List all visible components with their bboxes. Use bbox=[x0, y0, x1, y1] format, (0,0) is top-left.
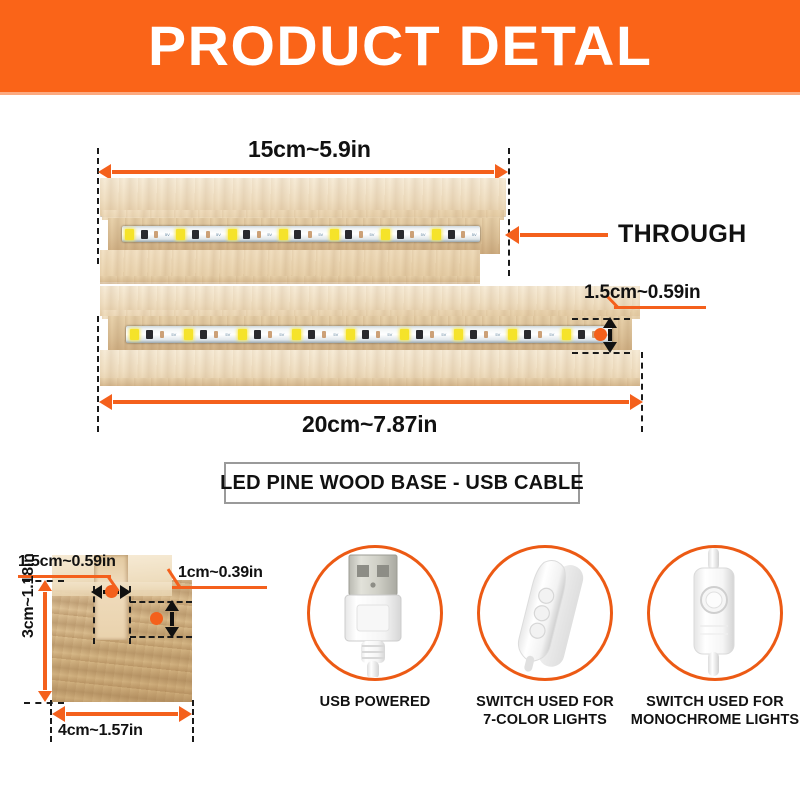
lower-base-front-edge bbox=[100, 378, 640, 386]
feature-item-usb-powered[interactable]: USB POWERED bbox=[290, 545, 460, 775]
dim-extension-line-depth-bottom bbox=[130, 636, 192, 638]
dim-label-groove-depth: 1cm~0.39in bbox=[178, 564, 263, 582]
led-segment: 5V bbox=[396, 326, 450, 343]
dim-extension-line-top-groove bbox=[572, 318, 630, 320]
led-segment: 5V bbox=[504, 326, 558, 343]
dim-extension-line-right-15cm bbox=[508, 148, 510, 276]
led-segment: 5V bbox=[234, 326, 288, 343]
dim-arrow-groove-height bbox=[608, 329, 612, 341]
through-callout-arrow bbox=[520, 233, 608, 237]
dim-label-top-length: 15cm~5.9in bbox=[248, 136, 371, 163]
product-caption-box: LED PINE WOOD BASE - USB CABLE bbox=[224, 462, 580, 504]
dim-arrow-total-height bbox=[43, 592, 47, 690]
dim-extension-line-left-20cm bbox=[97, 316, 99, 432]
led-segment: 5V bbox=[275, 226, 326, 242]
led-silkscreen-marking: 5V bbox=[549, 332, 554, 337]
led-resistor-icon bbox=[397, 230, 404, 239]
led-segment: 5V bbox=[126, 326, 180, 343]
led-segment: 5V bbox=[288, 326, 342, 343]
led-chip-icon bbox=[292, 329, 301, 340]
led-chip-icon bbox=[381, 229, 390, 240]
dim-arrow-groove-depth bbox=[170, 612, 174, 626]
dim-extension-line-bottom-groove bbox=[572, 352, 630, 354]
led-strip-upper: 5V 5V 5V 5V 5V bbox=[122, 226, 480, 242]
led-silkscreen-marking: 5V bbox=[279, 332, 284, 337]
dim-extension-line-height-bottom bbox=[24, 702, 64, 704]
led-segment: 5V bbox=[450, 326, 504, 343]
feature-list: USB POWERED bbox=[290, 545, 800, 775]
cross-section-diagram: 1.5cm~0.59in 1cm~0.39in 3cm~1.18in 4cm~1… bbox=[0, 540, 290, 780]
led-resistor-icon bbox=[192, 230, 199, 239]
led-solder-pad-icon bbox=[154, 231, 158, 238]
feature-label-line1: USB POWERED bbox=[320, 693, 431, 711]
usb-connector-icon bbox=[319, 549, 431, 677]
feature-label-monochrome: SWITCH USED FOR MONOCHROME LIGHTS bbox=[631, 693, 799, 729]
led-chip-icon bbox=[508, 329, 517, 340]
product-photo-stage: 15cm~5.9in 5V 5V 5V 5V bbox=[0, 100, 800, 440]
feature-circle-usb bbox=[307, 545, 443, 681]
led-silkscreen-marking: 5V bbox=[387, 332, 392, 337]
led-segment: 5V bbox=[173, 226, 224, 242]
feature-label-line2: 7-COLOR LIGHTS bbox=[476, 711, 614, 729]
dim-arrow-total-width bbox=[66, 712, 178, 716]
led-strip-lower: 5V 5V 5V 5V 5V bbox=[126, 326, 612, 343]
dim-extension-line-right-20cm bbox=[641, 352, 643, 432]
led-segment: 5V bbox=[342, 326, 396, 343]
upper-base-bottom-edge bbox=[100, 276, 480, 284]
page-title: PRODUCT DETAL bbox=[148, 18, 652, 74]
through-callout-label: THROUGH bbox=[618, 220, 746, 249]
dim-extension-line-width-right bbox=[192, 700, 194, 742]
led-chip-icon bbox=[279, 229, 288, 240]
dim-label-groove-height: 1.5cm~0.59in bbox=[584, 282, 700, 304]
feature-label-line2: MONOCHROME LIGHTS bbox=[631, 711, 799, 729]
dim-label-total-width: 4cm~1.57in bbox=[58, 722, 143, 740]
led-silkscreen-marking: 5V bbox=[318, 232, 323, 237]
led-silkscreen-marking: 5V bbox=[472, 232, 477, 237]
led-resistor-icon bbox=[308, 330, 315, 339]
led-solder-pad-icon bbox=[160, 331, 164, 338]
header-underline-divider bbox=[0, 92, 800, 95]
led-silkscreen-marking: 5V bbox=[216, 232, 221, 237]
led-segment: 5V bbox=[122, 226, 173, 242]
dim-arrow-20cm bbox=[113, 400, 629, 404]
single-button-switch-icon bbox=[656, 548, 774, 678]
led-silkscreen-marking: 5V bbox=[267, 232, 272, 237]
led-chip-icon bbox=[176, 229, 185, 240]
product-caption-text: LED PINE WOOD BASE - USB CABLE bbox=[220, 472, 584, 495]
feature-circle-7-color-switch bbox=[477, 545, 613, 681]
led-resistor-icon bbox=[254, 330, 261, 339]
leader-dot-groove-depth bbox=[150, 612, 163, 625]
led-resistor-icon bbox=[243, 230, 250, 239]
led-resistor-icon bbox=[362, 330, 369, 339]
led-solder-pad-icon bbox=[359, 231, 363, 238]
led-resistor-icon bbox=[141, 230, 148, 239]
led-solder-pad-icon bbox=[484, 331, 488, 338]
three-button-switch-icon bbox=[486, 548, 604, 678]
led-solder-pad-icon bbox=[268, 331, 272, 338]
led-chip-icon bbox=[432, 229, 441, 240]
led-solder-pad-icon bbox=[376, 331, 380, 338]
led-solder-pad-icon bbox=[461, 231, 465, 238]
dim-label-bottom-length: 20cm~7.87in bbox=[302, 411, 437, 438]
led-resistor-icon bbox=[345, 230, 352, 239]
led-chip-icon bbox=[346, 329, 355, 340]
leader-dot-groove-width bbox=[105, 585, 118, 598]
led-chip-icon bbox=[454, 329, 463, 340]
dim-label-total-height: 3cm~1.18in bbox=[20, 553, 38, 638]
led-resistor-icon bbox=[470, 330, 477, 339]
led-chip-icon bbox=[130, 329, 139, 340]
feature-circle-monochrome-switch bbox=[647, 545, 783, 681]
leader-line-groove-depth bbox=[172, 586, 267, 589]
led-silkscreen-marking: 5V bbox=[421, 232, 426, 237]
led-solder-pad-icon bbox=[214, 331, 218, 338]
led-solder-pad-icon bbox=[430, 331, 434, 338]
led-solder-pad-icon bbox=[206, 231, 210, 238]
feature-label-7-color: SWITCH USED FOR 7-COLOR LIGHTS bbox=[476, 693, 614, 729]
feature-label-usb: USB POWERED bbox=[320, 693, 431, 711]
led-solder-pad-icon bbox=[322, 331, 326, 338]
feature-item-monochrome-switch[interactable]: SWITCH USED FOR MONOCHROME LIGHTS bbox=[630, 545, 800, 775]
feature-label-line1: SWITCH USED FOR bbox=[631, 693, 799, 711]
led-resistor-icon bbox=[200, 330, 207, 339]
led-silkscreen-marking: 5V bbox=[333, 332, 338, 337]
dim-arrow-15cm bbox=[112, 170, 494, 174]
led-chip-icon bbox=[330, 229, 339, 240]
led-silkscreen-marking: 5V bbox=[441, 332, 446, 337]
feature-label-line1: SWITCH USED FOR bbox=[476, 693, 614, 711]
led-segment: 5V bbox=[327, 226, 378, 242]
led-solder-pad-icon bbox=[410, 231, 414, 238]
led-segment: 5V bbox=[429, 226, 480, 242]
leader-dot-groove-height bbox=[594, 328, 607, 341]
led-chip-icon bbox=[184, 329, 193, 340]
led-silkscreen-marking: 5V bbox=[495, 332, 500, 337]
led-silkscreen-marking: 5V bbox=[369, 232, 374, 237]
header-banner: PRODUCT DETAL bbox=[0, 0, 800, 92]
led-resistor-icon bbox=[578, 330, 585, 339]
led-chip-icon bbox=[238, 329, 247, 340]
led-segment: 5V bbox=[180, 326, 234, 343]
led-silkscreen-marking: 5V bbox=[171, 332, 176, 337]
led-chip-icon bbox=[562, 329, 571, 340]
led-solder-pad-icon bbox=[538, 331, 542, 338]
led-resistor-icon bbox=[524, 330, 531, 339]
led-silkscreen-marking: 5V bbox=[165, 232, 170, 237]
feature-item-7-color-switch[interactable]: SWITCH USED FOR 7-COLOR LIGHTS bbox=[460, 545, 630, 775]
led-solder-pad-icon bbox=[257, 231, 261, 238]
led-chip-icon bbox=[125, 229, 134, 240]
leader-line-groove-height bbox=[614, 306, 706, 309]
led-silkscreen-marking: 5V bbox=[225, 332, 230, 337]
led-solder-pad-icon bbox=[308, 231, 312, 238]
led-resistor-icon bbox=[146, 330, 153, 339]
led-chip-icon bbox=[228, 229, 237, 240]
led-chip-icon bbox=[400, 329, 409, 340]
led-resistor-icon bbox=[294, 230, 301, 239]
led-resistor-icon bbox=[416, 330, 423, 339]
led-resistor-icon bbox=[448, 230, 455, 239]
led-segment: 5V bbox=[378, 226, 429, 242]
dim-extension-line-depth-top bbox=[130, 601, 192, 603]
led-segment: 5V bbox=[224, 226, 275, 242]
